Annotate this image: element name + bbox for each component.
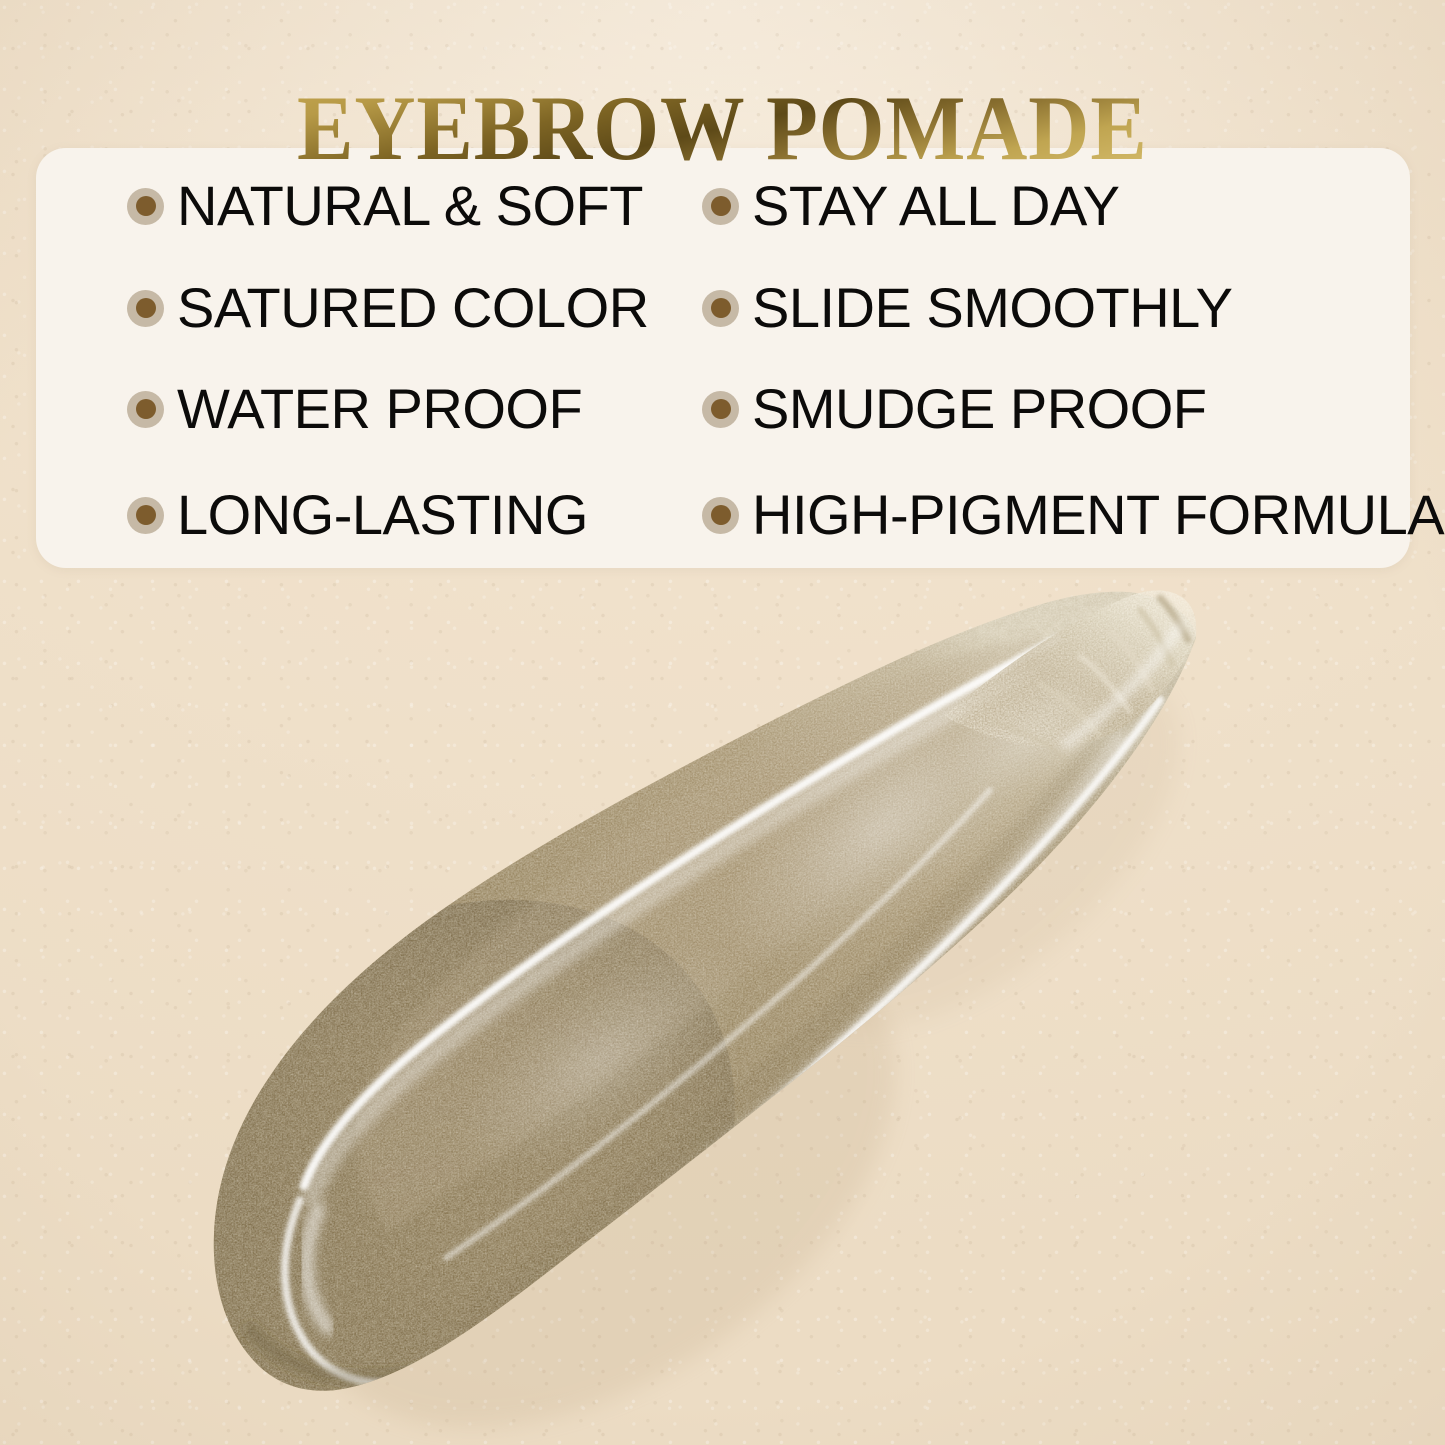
feature-label: HIGH-PIGMENT FORMULA	[752, 487, 1444, 543]
feature-item-smudge-proof: SMUDGE PROOF	[702, 380, 1206, 438]
feature-item-slide-smoothly: SLIDE SMOOTHLY	[702, 279, 1233, 337]
dot-bullet-icon	[127, 391, 164, 428]
feature-item-satured-color: SATURED COLOR	[127, 279, 649, 337]
feature-label: SMUDGE PROOF	[752, 381, 1206, 437]
product-feature-poster: EYEBROW POMADE NATURAL & SOFT SATURED CO…	[0, 0, 1445, 1445]
dot-bullet-icon	[127, 497, 164, 534]
feature-label: SATURED COLOR	[177, 280, 649, 336]
dot-bullet-icon	[702, 497, 739, 534]
feature-item-water-proof: WATER PROOF	[127, 380, 582, 438]
feature-label: LONG-LASTING	[177, 487, 588, 543]
page-title: EYEBROW POMADE	[297, 80, 1148, 177]
title-container: EYEBROW POMADE	[0, 18, 1445, 238]
feature-label: WATER PROOF	[177, 381, 582, 437]
feature-label: SLIDE SMOOTHLY	[752, 280, 1233, 336]
feature-item-high-pigment-formula: HIGH-PIGMENT FORMULA	[702, 486, 1444, 544]
dot-bullet-icon	[702, 391, 739, 428]
dot-bullet-icon	[702, 290, 739, 327]
dot-bullet-icon	[127, 290, 164, 327]
feature-item-long-lasting: LONG-LASTING	[127, 486, 588, 544]
